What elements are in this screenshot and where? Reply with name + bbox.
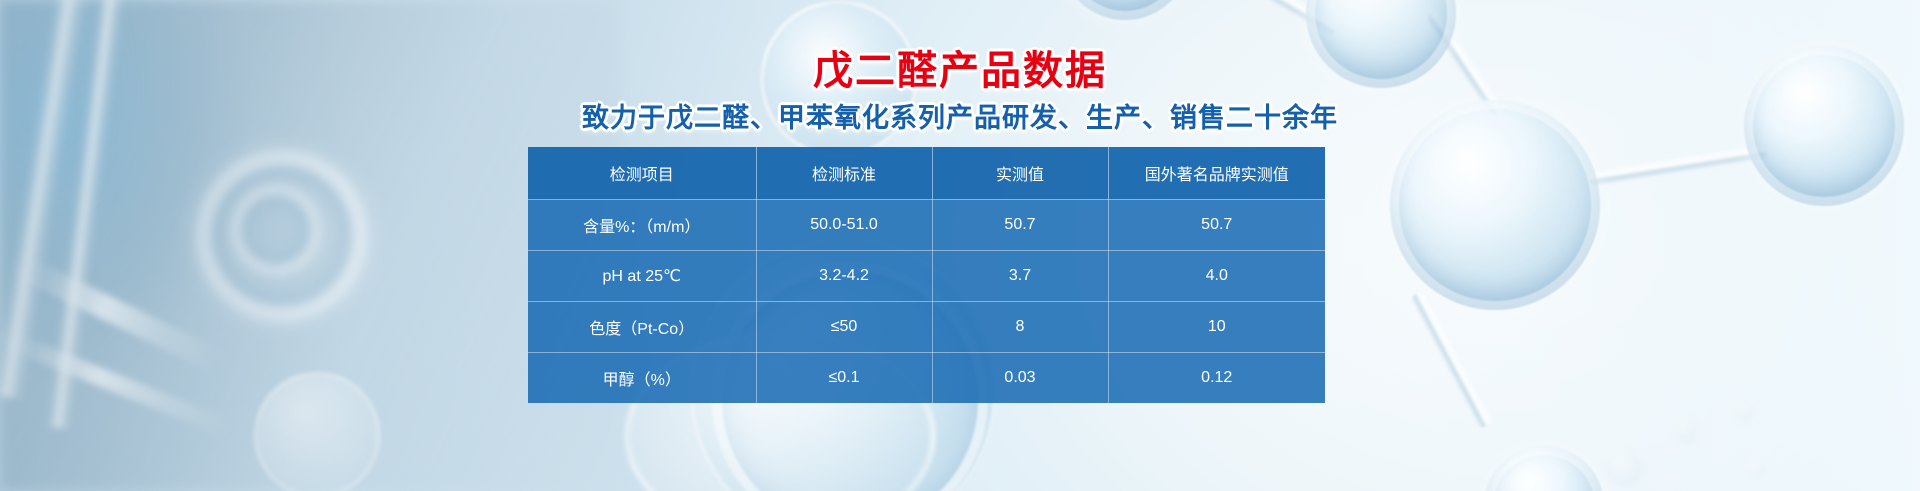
cell-item: pH at 25℃ (528, 251, 756, 302)
table-row: pH at 25℃ 3.2-4.2 3.7 4.0 (528, 251, 1325, 302)
cell-standard: ≤50 (756, 302, 932, 353)
cell-item: 色度（Pt-Co） (528, 302, 756, 353)
cell-standard: 50.0-51.0 (756, 200, 932, 251)
page-title: 戊二醛产品数据 (0, 48, 1920, 94)
cell-measured: 50.7 (932, 200, 1108, 251)
product-data-banner: 戊二醛产品数据 致力于戊二醛、甲苯氧化系列产品研发、生产、销售二十余年 检测项目… (0, 0, 1920, 491)
cell-item: 含量%：（m/m） (528, 200, 756, 251)
cell-measured: 0.03 (932, 353, 1108, 404)
cell-standard: 3.2-4.2 (756, 251, 932, 302)
cell-foreign-brand: 10 (1108, 302, 1325, 353)
page-subtitle: 致力于戊二醛、甲苯氧化系列产品研发、生产、销售二十余年 (0, 102, 1920, 134)
cell-measured: 8 (932, 302, 1108, 353)
cell-measured: 3.7 (932, 251, 1108, 302)
table-header-row: 检测项目 检测标准 实测值 国外著名品牌实测值 (528, 147, 1325, 200)
product-data-table: 检测项目 检测标准 实测值 国外著名品牌实测值 含量%：（m/m） 50.0-5… (528, 147, 1325, 403)
column-header-measured: 实测值 (932, 147, 1108, 200)
table-row: 含量%：（m/m） 50.0-51.0 50.7 50.7 (528, 200, 1325, 251)
column-header-item: 检测项目 (528, 147, 756, 200)
banner-heading-block: 戊二醛产品数据 致力于戊二醛、甲苯氧化系列产品研发、生产、销售二十余年 (0, 48, 1920, 134)
table-row: 色度（Pt-Co） ≤50 8 10 (528, 302, 1325, 353)
cell-standard: ≤0.1 (756, 353, 932, 404)
cell-foreign-brand: 50.7 (1108, 200, 1325, 251)
cell-item: 甲醇（%） (528, 353, 756, 404)
column-header-standard: 检测标准 (756, 147, 932, 200)
cell-foreign-brand: 4.0 (1108, 251, 1325, 302)
table-row: 甲醇（%） ≤0.1 0.03 0.12 (528, 353, 1325, 404)
cell-foreign-brand: 0.12 (1108, 353, 1325, 404)
column-header-foreign-brand: 国外著名品牌实测值 (1108, 147, 1325, 200)
product-data-table-container: 检测项目 检测标准 实测值 国外著名品牌实测值 含量%：（m/m） 50.0-5… (528, 147, 1325, 403)
